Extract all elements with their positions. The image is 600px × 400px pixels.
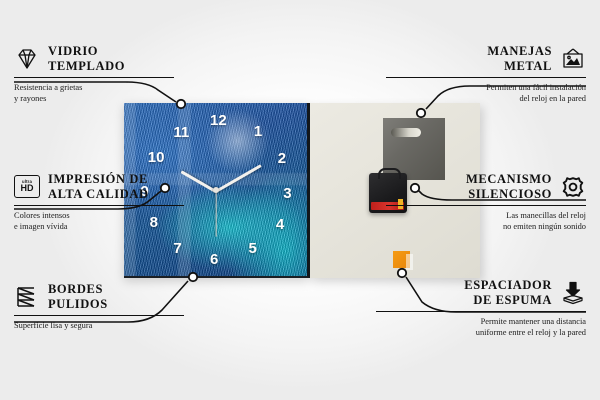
- callout-desc-line2: del reloj en la pared: [386, 93, 586, 104]
- callout-rule: [14, 77, 174, 79]
- callout-desc-line2: y rayones: [14, 93, 174, 104]
- callout-desc-line2: no emiten ningún sonido: [386, 221, 586, 232]
- callout-desc-line1: Colores intensos: [14, 210, 184, 221]
- clock-second-hand: [215, 190, 216, 236]
- callout-desc-line1: Permiten una fácil instalación: [386, 82, 586, 93]
- callout-rule: [14, 315, 184, 317]
- clock-numeral-4: 4: [276, 217, 284, 232]
- clock-numeral-1: 1: [254, 124, 262, 139]
- callout-title-line1: ESPACIADOR: [464, 278, 552, 293]
- picture-frame-icon: [560, 47, 586, 71]
- clock-numeral-11: 11: [173, 125, 189, 140]
- infographic-canvas: 12 1 2 3 4 5 6 7 8 9 10 11: [0, 0, 600, 400]
- callout-rule: [14, 205, 184, 207]
- callout-desc-line2: uniforme entre el reloj y la pared: [376, 327, 586, 338]
- callout-title-line2: ALTA CALIDAD: [48, 187, 149, 202]
- callout-rule: [376, 311, 586, 313]
- clock-numeral-12: 12: [210, 113, 227, 128]
- callout-header: BORDES PULIDOS: [14, 282, 184, 312]
- callout-header: MANEJAS METAL: [386, 44, 586, 74]
- callout-title-line2: PULIDOS: [48, 297, 108, 312]
- diagonal-stripes-icon: [14, 285, 40, 309]
- clock-numeral-10: 10: [148, 150, 165, 165]
- callout-title-line2: TEMPLADO: [48, 59, 125, 74]
- callout-desc-line1: Las manecillas del reloj: [386, 210, 586, 221]
- callout-header: ESPACIADOR DE ESPUMA: [376, 278, 586, 308]
- callout-title-line1: BORDES: [48, 282, 108, 297]
- callout-manejas-metal[interactable]: MANEJAS METAL Permiten una fácil instala…: [386, 44, 586, 104]
- clock-numeral-5: 5: [248, 241, 256, 256]
- callout-vidrio-templado[interactable]: VIDRIO TEMPLADO Resistencia a grietas y …: [14, 44, 174, 104]
- callout-title-line1: MANEJAS: [487, 44, 552, 59]
- foam-spacer: [393, 251, 410, 268]
- gear-icon: [560, 175, 586, 199]
- callout-mecanismo-silencioso[interactable]: MECANISMO SILENCIOSO Las manecillas del …: [386, 172, 586, 232]
- callout-title-line2: METAL: [487, 59, 552, 74]
- down-arrow-pad-icon: [560, 281, 586, 305]
- callout-desc-line1: Permite mantener una distancia: [376, 316, 586, 327]
- hanger-slot-icon: [391, 128, 421, 137]
- clock-hand-hub: [213, 187, 219, 193]
- clock-numeral-3: 3: [283, 186, 291, 201]
- callout-header: MECANISMO SILENCIOSO: [386, 172, 586, 202]
- callout-desc-line2: e imagen vívida: [14, 221, 184, 232]
- callout-title-line2: DE ESPUMA: [464, 293, 552, 308]
- ultra-hd-icon: ultra HD: [14, 175, 40, 198]
- callout-desc-line1: Resistencia a grietas: [14, 82, 174, 93]
- callout-bordes-pulidos[interactable]: BORDES PULIDOS Superficie lisa y segura: [14, 282, 184, 331]
- callout-impresion-alta-calidad[interactable]: ultra HD IMPRESIÓN DE ALTA CALIDAD Color…: [14, 172, 184, 232]
- clock-numeral-7: 7: [173, 241, 181, 256]
- callout-title-line1: IMPRESIÓN DE: [48, 172, 149, 187]
- clock-hour-hand: [180, 170, 216, 193]
- callout-header: VIDRIO TEMPLADO: [14, 44, 174, 74]
- callout-espaciador-espuma[interactable]: ESPACIADOR DE ESPUMA Permite mantener un…: [376, 278, 586, 338]
- callout-title-line1: MECANISMO: [466, 172, 552, 187]
- callout-title-line1: VIDRIO: [48, 44, 125, 59]
- clock-numeral-6: 6: [210, 252, 218, 267]
- callout-rule: [386, 205, 586, 207]
- callout-rule: [386, 77, 586, 79]
- callout-title-line2: SILENCIOSO: [466, 187, 552, 202]
- clock-minute-hand: [215, 164, 262, 193]
- diamond-icon: [14, 47, 40, 71]
- callout-desc-line1: Superficie lisa y segura: [14, 320, 184, 331]
- callout-header: ultra HD IMPRESIÓN DE ALTA CALIDAD: [14, 172, 184, 202]
- ultra-hd-icon-bottom: HD: [21, 184, 34, 193]
- clock-numeral-2: 2: [278, 151, 286, 166]
